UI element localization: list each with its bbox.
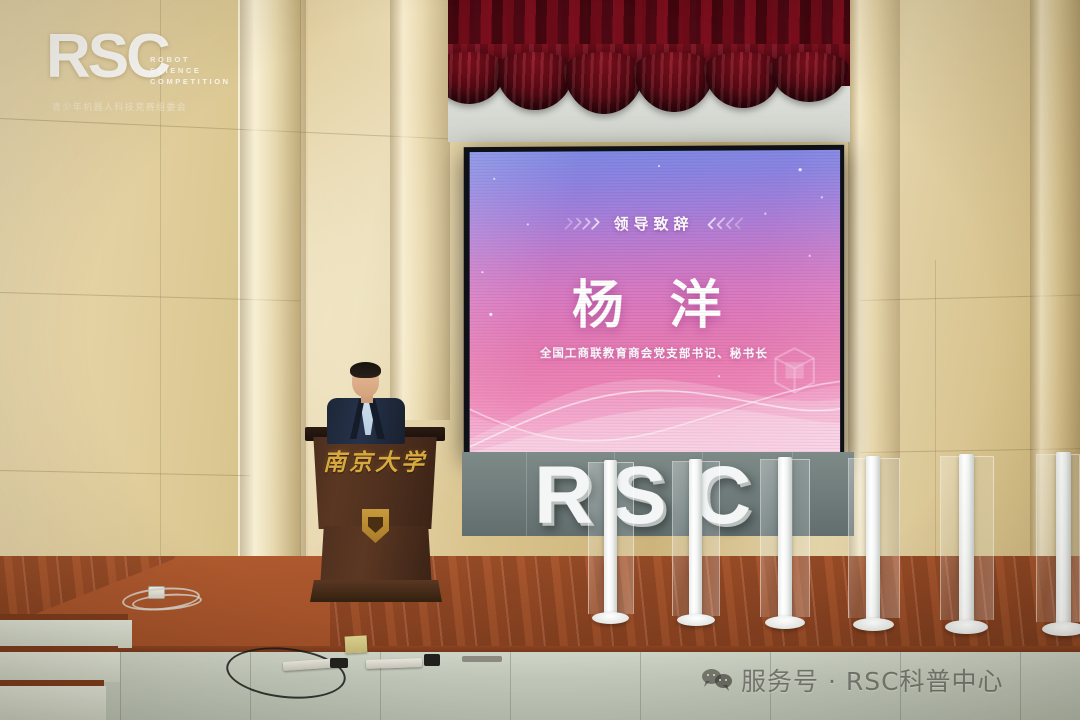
rsc-logo: RSC Robot Science Competition 青少年机器人科技竞赛… xyxy=(46,26,241,121)
wechat-watermark: 服务号 · RSC科普中心 xyxy=(702,662,1004,698)
slide-wave-decoration xyxy=(470,344,840,455)
stair-step-bottom xyxy=(0,686,106,720)
acrylic-post-4 xyxy=(866,456,880,622)
acrylic-post-2 xyxy=(689,459,702,620)
chevron-right-decor-icon xyxy=(564,218,598,229)
acrylic-post-1 xyxy=(604,460,617,618)
chevron-left-decor-icon xyxy=(710,218,744,229)
slide-header-row: 领导致辞 xyxy=(470,212,840,234)
acrylic-foot-1 xyxy=(592,612,629,624)
podium-note-card xyxy=(345,635,368,653)
led-presentation-screen: 领导致辞 杨 洋 全国工商联教育商会党支部书记、秘书长 xyxy=(464,145,844,459)
stage-curtain xyxy=(448,0,850,122)
acrylic-foot-3 xyxy=(765,616,805,629)
rsc-logo-tagline: Robot Science Competition xyxy=(150,54,231,87)
wall-pillar-right xyxy=(390,0,450,420)
acrylic-foot-4 xyxy=(853,618,894,631)
stair-step-top xyxy=(0,620,132,648)
cable-connector-2 xyxy=(424,654,440,666)
stair-step-mid xyxy=(0,652,120,682)
slide-speaker-name: 杨 洋 xyxy=(470,263,840,339)
acrylic-foot-5 xyxy=(945,620,988,634)
acrylic-post-5 xyxy=(959,454,974,624)
cable-connector-1 xyxy=(330,658,348,668)
acrylic-foot-2 xyxy=(677,614,715,626)
podium-plaque-text: 南京大学 xyxy=(308,443,442,477)
wechat-icon xyxy=(702,668,732,692)
acrylic-post-6 xyxy=(1056,452,1071,626)
acrylic-foot-6 xyxy=(1042,622,1080,636)
speaker-hair xyxy=(350,362,381,378)
rsc-tagline-line-2: Science xyxy=(150,65,231,76)
stage-letter-r: R xyxy=(534,455,593,537)
podium-base xyxy=(310,580,442,602)
acrylic-post-3 xyxy=(778,457,792,621)
rsc-logo-chinese-subtitle: 青少年机器人科技竞赛组委会 xyxy=(52,100,187,113)
floor-device xyxy=(462,656,502,662)
slide-content: 领导致辞 杨 洋 全国工商联教育商会党支部书记、秘书长 xyxy=(470,150,840,455)
rsc-tagline-line-1: Robot xyxy=(150,54,231,65)
rsc-tagline-line-3: Competition xyxy=(150,76,231,87)
slide-section-title: 领导致辞 xyxy=(614,213,694,234)
auditorium-photo: 领导致辞 杨 洋 全国工商联教育商会党支部书记、秘书长 xyxy=(0,0,1080,720)
watermark-text: 服务号 · RSC科普中心 xyxy=(741,662,1004,698)
